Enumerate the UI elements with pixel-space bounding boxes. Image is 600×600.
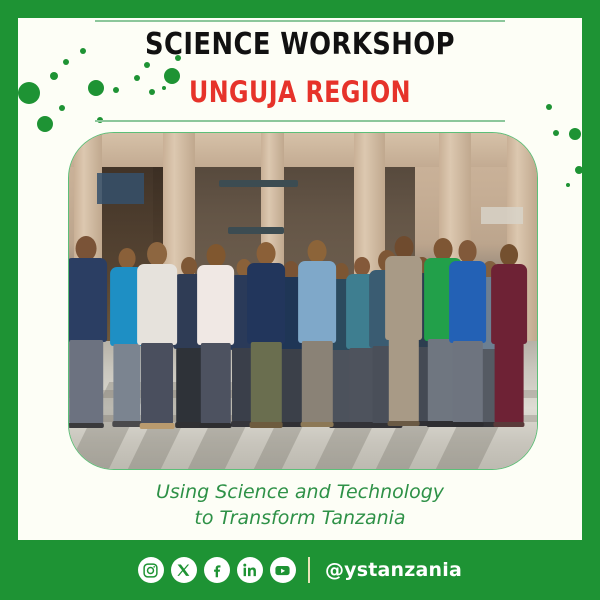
person-legs bbox=[495, 342, 524, 422]
person-legs bbox=[200, 343, 230, 423]
person-torso bbox=[69, 258, 107, 342]
person-torso bbox=[298, 261, 336, 343]
divider-rule-bottom bbox=[95, 120, 505, 122]
person-legs bbox=[251, 342, 281, 423]
person-torso bbox=[248, 263, 286, 344]
person-torso bbox=[449, 261, 487, 343]
decorative-dot bbox=[37, 116, 53, 132]
youtube-icon[interactable] bbox=[270, 557, 296, 583]
person-legs bbox=[302, 341, 332, 423]
group-photo bbox=[69, 133, 537, 469]
header-block: SCIENCE WORKSHOP UNGUJA REGION bbox=[18, 26, 582, 110]
person-shoes bbox=[69, 423, 104, 428]
person-legs bbox=[388, 338, 418, 422]
person-head bbox=[75, 236, 96, 261]
wall-plaque bbox=[97, 173, 144, 203]
group-photo-frame bbox=[68, 132, 538, 470]
person-legs bbox=[452, 341, 482, 423]
instagram-icon[interactable] bbox=[138, 557, 164, 583]
person-shoes bbox=[140, 423, 175, 428]
person-torso bbox=[197, 265, 235, 345]
person bbox=[447, 240, 488, 445]
person-shoes bbox=[301, 422, 334, 427]
person-legs bbox=[69, 340, 103, 424]
person-torso bbox=[137, 264, 177, 345]
person-head bbox=[147, 242, 167, 266]
person-shoes bbox=[451, 422, 484, 427]
tagline-line-1: Using Science and Technology bbox=[18, 480, 582, 506]
person bbox=[69, 236, 109, 446]
footer-bar: @ystanzania bbox=[0, 540, 600, 600]
wall-sign bbox=[481, 207, 523, 224]
ceiling-light bbox=[219, 180, 299, 187]
decorative-dot bbox=[566, 183, 570, 187]
person bbox=[297, 240, 338, 445]
divider-rule-top bbox=[95, 20, 505, 22]
page-title: SCIENCE WORKSHOP bbox=[57, 26, 542, 64]
poster-canvas: SCIENCE WORKSHOP UNGUJA REGION bbox=[18, 18, 582, 540]
footer-separator bbox=[308, 557, 310, 583]
person-shoes bbox=[493, 422, 524, 427]
person-torso bbox=[491, 264, 527, 344]
decorative-dot bbox=[575, 166, 582, 174]
tagline: Using Science and Technology to Transfor… bbox=[18, 480, 582, 531]
person-shoes bbox=[387, 421, 420, 426]
person-shoes bbox=[250, 422, 283, 427]
facebook-icon[interactable] bbox=[204, 557, 230, 583]
tagline-line-2: to Transform Tanzania bbox=[18, 506, 582, 532]
page-subtitle: UNGUJA REGION bbox=[69, 74, 531, 110]
person bbox=[136, 242, 179, 445]
linkedin-icon[interactable] bbox=[237, 557, 263, 583]
decorative-dot bbox=[553, 130, 559, 136]
poster-root: SCIENCE WORKSHOP UNGUJA REGION bbox=[0, 0, 600, 600]
ceiling-light bbox=[228, 227, 284, 234]
person bbox=[246, 242, 287, 445]
x-icon[interactable] bbox=[171, 557, 197, 583]
person-shoes bbox=[199, 423, 232, 428]
decorative-dot bbox=[569, 128, 581, 140]
person bbox=[195, 244, 236, 445]
person-torso bbox=[385, 256, 423, 340]
person bbox=[489, 244, 528, 445]
social-handle[interactable]: @ystanzania bbox=[325, 559, 462, 581]
person bbox=[383, 236, 424, 446]
person-legs bbox=[141, 343, 173, 424]
